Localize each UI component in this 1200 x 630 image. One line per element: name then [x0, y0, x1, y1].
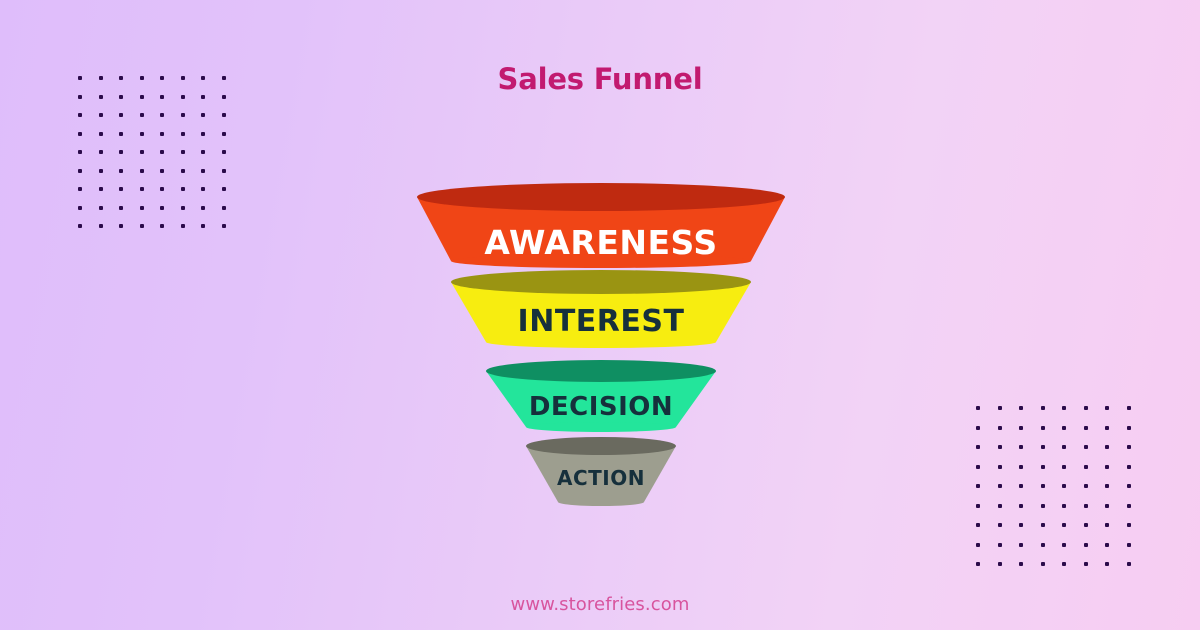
decorative-dot — [1062, 523, 1066, 527]
decorative-dot — [1127, 504, 1131, 508]
decorative-dot — [1019, 406, 1023, 410]
decorative-dot — [1084, 465, 1088, 469]
decorative-dot — [1084, 562, 1088, 566]
decorative-dot — [1041, 562, 1045, 566]
decorative-dot — [998, 523, 1002, 527]
decorative-dot — [976, 562, 980, 566]
decorative-dot — [1062, 426, 1066, 430]
decorative-dot — [976, 426, 980, 430]
decorative-dot — [1019, 543, 1023, 547]
decorative-dot — [998, 406, 1002, 410]
decorative-dot — [1105, 543, 1109, 547]
decorative-dot — [1084, 484, 1088, 488]
decorative-dot — [1062, 504, 1066, 508]
decorative-dot — [1127, 465, 1131, 469]
decorative-dot — [1062, 484, 1066, 488]
decorative-dot — [1019, 465, 1023, 469]
decorative-dot — [1019, 484, 1023, 488]
decorative-dot — [1041, 504, 1045, 508]
decorative-dot — [1062, 406, 1066, 410]
decorative-dot — [1105, 406, 1109, 410]
decorative-dot — [1105, 523, 1109, 527]
funnel-stage-interest[interactable]: INTEREST — [451, 270, 751, 358]
decorative-dot — [1105, 465, 1109, 469]
decorative-dot — [1127, 406, 1131, 410]
decorative-dot — [1084, 445, 1088, 449]
decorative-dot — [1127, 426, 1131, 430]
footer-website-url[interactable]: www.storefries.com — [0, 594, 1200, 615]
decorative-dot — [1041, 465, 1045, 469]
awareness-bottom-ellipse — [451, 254, 751, 268]
decorative-dot — [1105, 426, 1109, 430]
decorative-dot — [976, 543, 980, 547]
decision-bottom-ellipse — [526, 422, 676, 432]
decorative-dot — [1062, 445, 1066, 449]
decorative-dot — [976, 445, 980, 449]
decorative-dot — [1041, 426, 1045, 430]
funnel-stage-decision[interactable]: DECISION — [486, 360, 716, 442]
action-top-ellipse — [526, 437, 676, 455]
decorative-dot — [998, 504, 1002, 508]
decorative-dot — [1084, 523, 1088, 527]
decorative-dot — [1019, 504, 1023, 508]
decorative-dot — [1127, 562, 1131, 566]
decorative-dot — [976, 465, 980, 469]
decorative-dot — [1127, 445, 1131, 449]
decorative-dot — [1041, 445, 1045, 449]
decorative-dot — [998, 426, 1002, 430]
decorative-dot — [998, 445, 1002, 449]
decorative-dot — [1041, 523, 1045, 527]
decorative-dot — [1041, 543, 1045, 547]
awareness-top-ellipse — [417, 183, 785, 211]
interest-bottom-ellipse — [486, 336, 716, 348]
decorative-dot — [1105, 562, 1109, 566]
decision-top-ellipse — [486, 360, 716, 382]
decorative-dot — [998, 543, 1002, 547]
decorative-dot — [1127, 543, 1131, 547]
decorative-dot — [1019, 426, 1023, 430]
decorative-dot — [1127, 484, 1131, 488]
decorative-dot — [998, 562, 1002, 566]
decorative-dot — [1041, 484, 1045, 488]
action-bottom-ellipse — [558, 498, 644, 506]
decorative-dot — [976, 484, 980, 488]
funnel-infographic-canvas: Sales Funnel AWARENESS INTEREST — [0, 0, 1200, 630]
decorative-dot — [1019, 445, 1023, 449]
decorative-dot — [1062, 465, 1066, 469]
decorative-dot — [1019, 562, 1023, 566]
decorative-dot — [1084, 543, 1088, 547]
dot-grid-bottom-right-decoration — [976, 406, 1148, 582]
decorative-dot — [1019, 523, 1023, 527]
decorative-dot — [1105, 484, 1109, 488]
decorative-dot — [1105, 445, 1109, 449]
decorative-dot — [998, 484, 1002, 488]
decorative-dot — [1127, 523, 1131, 527]
interest-top-ellipse — [451, 270, 751, 294]
decorative-dot — [1062, 543, 1066, 547]
funnel-stage-awareness[interactable]: AWARENESS — [417, 183, 785, 273]
decorative-dot — [1084, 406, 1088, 410]
decorative-dot — [1084, 504, 1088, 508]
decorative-dot — [998, 465, 1002, 469]
decorative-dot — [1041, 406, 1045, 410]
decorative-dot — [1105, 504, 1109, 508]
decorative-dot — [976, 406, 980, 410]
decorative-dot — [976, 523, 980, 527]
decorative-dot — [976, 504, 980, 508]
decorative-dot — [1084, 426, 1088, 430]
decorative-dot — [1062, 562, 1066, 566]
funnel-stage-action[interactable]: ACTION — [526, 437, 676, 515]
